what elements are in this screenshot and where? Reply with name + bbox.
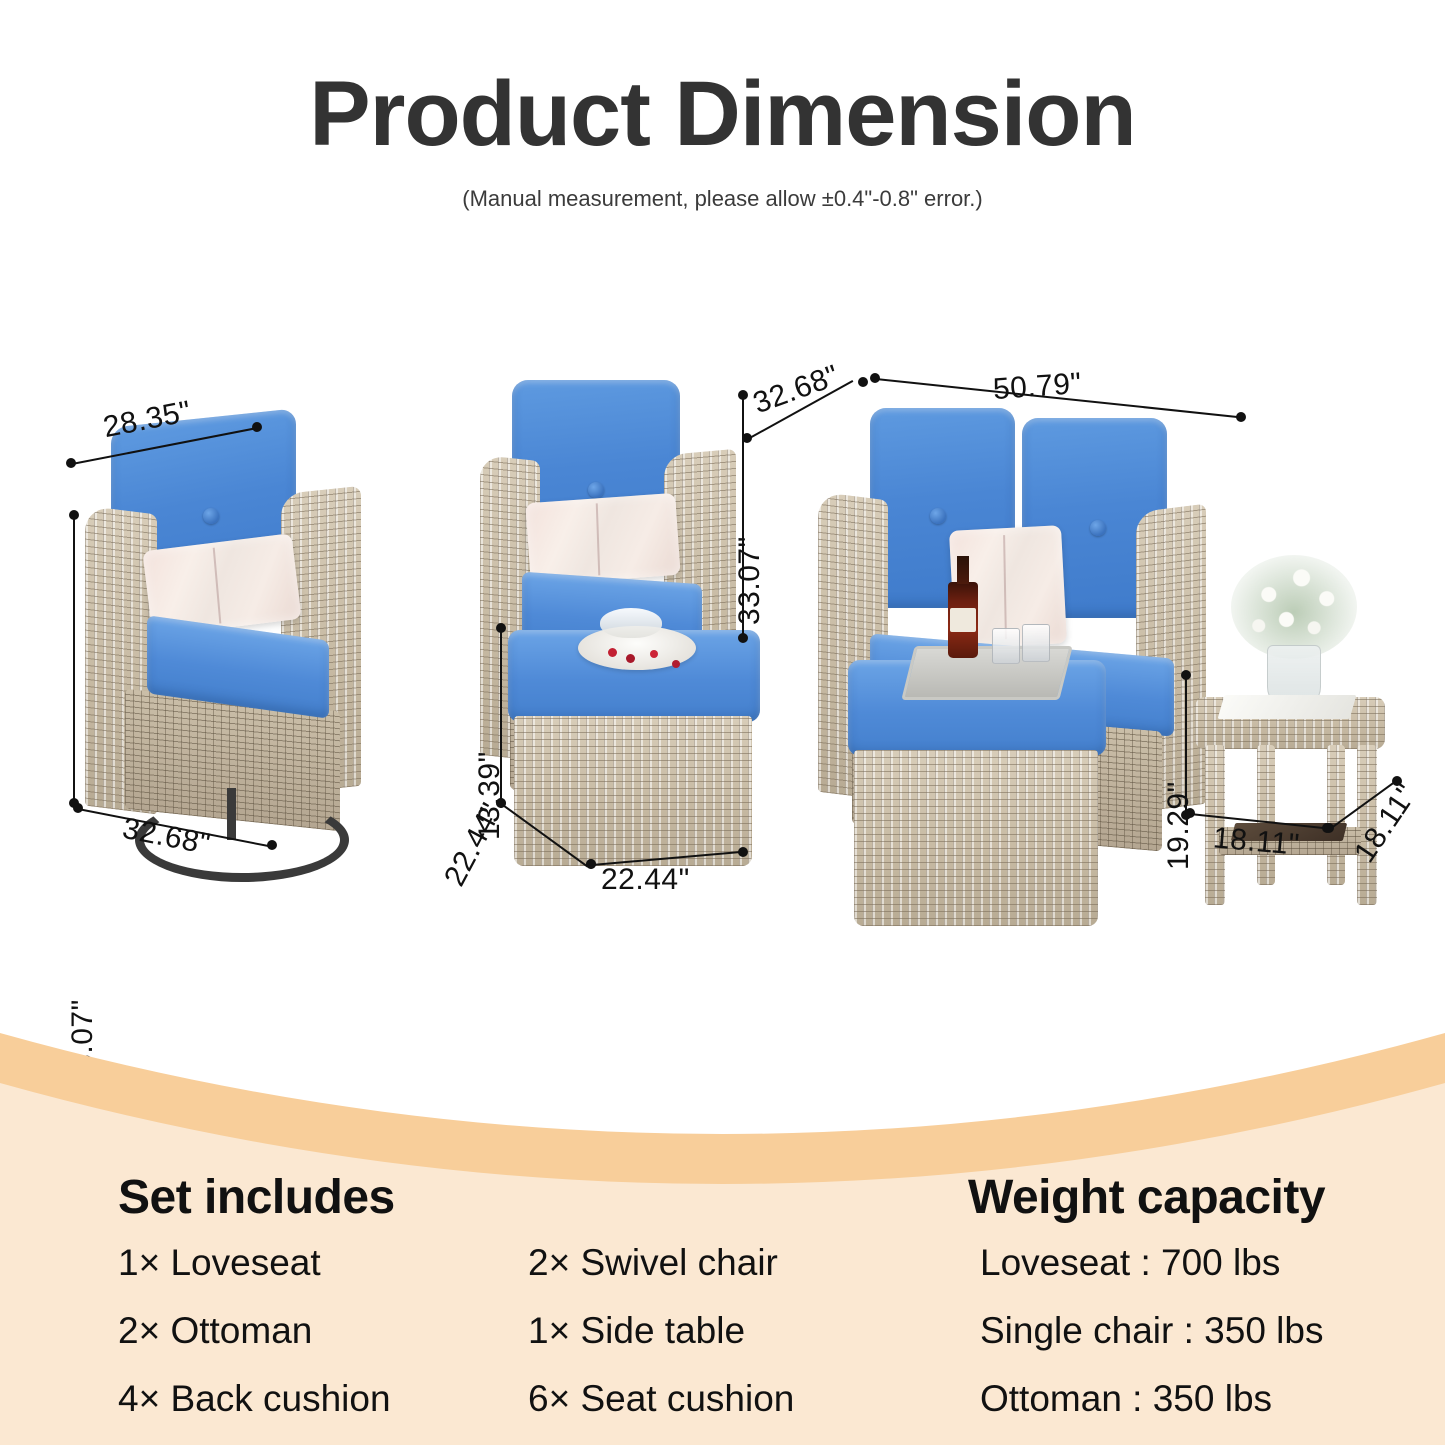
set-includes-left-column: 1× Loveseat 2× Ottoman 4× Back cushion <box>118 1242 391 1420</box>
furniture-scene: 28.35" 33.07" 32.68" <box>0 340 1445 980</box>
bottle-label <box>950 608 976 632</box>
berry <box>626 654 635 663</box>
berry <box>672 660 680 668</box>
header: Product Dimension (Manual measurement, p… <box>0 0 1445 212</box>
berry <box>650 650 658 658</box>
list-item: 4× Back cushion <box>118 1378 391 1420</box>
weight-capacity-title: Weight capacity <box>968 1170 1325 1225</box>
ottoman-frame <box>514 716 752 866</box>
ottoman-frame <box>854 750 1098 926</box>
tuft-button <box>930 508 946 524</box>
page-title: Product Dimension <box>0 68 1445 160</box>
magazine <box>1218 695 1357 719</box>
swivel-post <box>227 788 236 840</box>
side-table-leg <box>1257 745 1275 885</box>
side-table-leg <box>1327 745 1345 885</box>
ottoman-center <box>500 630 760 880</box>
tuft-button <box>588 482 604 498</box>
set-includes-title: Set includes <box>118 1170 395 1225</box>
list-item: 1× Loveseat <box>118 1242 391 1284</box>
set-includes-right-column: 2× Swivel chair 1× Side table 6× Seat cu… <box>528 1242 794 1420</box>
list-item: Single chair : 350 lbs <box>980 1310 1323 1352</box>
dim-label-19-29: 19.29" <box>1162 781 1196 870</box>
bottle-neck <box>957 556 969 584</box>
weight-capacity-list: Loveseat : 700 lbs Single chair : 350 lb… <box>980 1242 1323 1420</box>
product-dimension-infographic: Product Dimension (Manual measurement, p… <box>0 0 1445 1445</box>
tuft-button <box>203 508 219 524</box>
ottoman-front <box>840 660 1110 940</box>
weight-capacity-section: Weight capacity <box>968 1170 1325 1225</box>
list-item: 2× Swivel chair <box>528 1242 794 1284</box>
glass-tumbler <box>1022 624 1050 662</box>
list-item: 2× Ottoman <box>118 1310 391 1352</box>
dim-label-50-79: 50.79" <box>992 367 1083 407</box>
berry <box>608 648 617 657</box>
fruit-bowl <box>600 608 662 638</box>
dim-label-33-07-center: 33.07" <box>733 536 767 625</box>
list-item: Ottoman : 350 lbs <box>980 1378 1323 1420</box>
throw-pillow <box>525 493 680 585</box>
measurement-disclaimer: (Manual measurement, please allow ±0.4"-… <box>0 186 1445 212</box>
list-item: 6× Seat cushion <box>528 1378 794 1420</box>
tuft-button <box>1090 520 1106 536</box>
set-includes-section: Set includes <box>118 1170 395 1225</box>
swivel-chair-left <box>85 400 385 870</box>
list-item: 1× Side table <box>528 1310 794 1352</box>
bottom-panel: Set includes 1× Loveseat 2× Ottoman 4× B… <box>0 1005 1445 1445</box>
list-item: Loveseat : 700 lbs <box>980 1242 1323 1284</box>
dim-label-22-44-width: 22.44" <box>601 863 690 897</box>
glass-tumbler <box>992 628 1020 664</box>
flower-bouquet <box>1231 555 1357 659</box>
bottom-text-content: Set includes 1× Loveseat 2× Ottoman 4× B… <box>0 1005 1445 1445</box>
